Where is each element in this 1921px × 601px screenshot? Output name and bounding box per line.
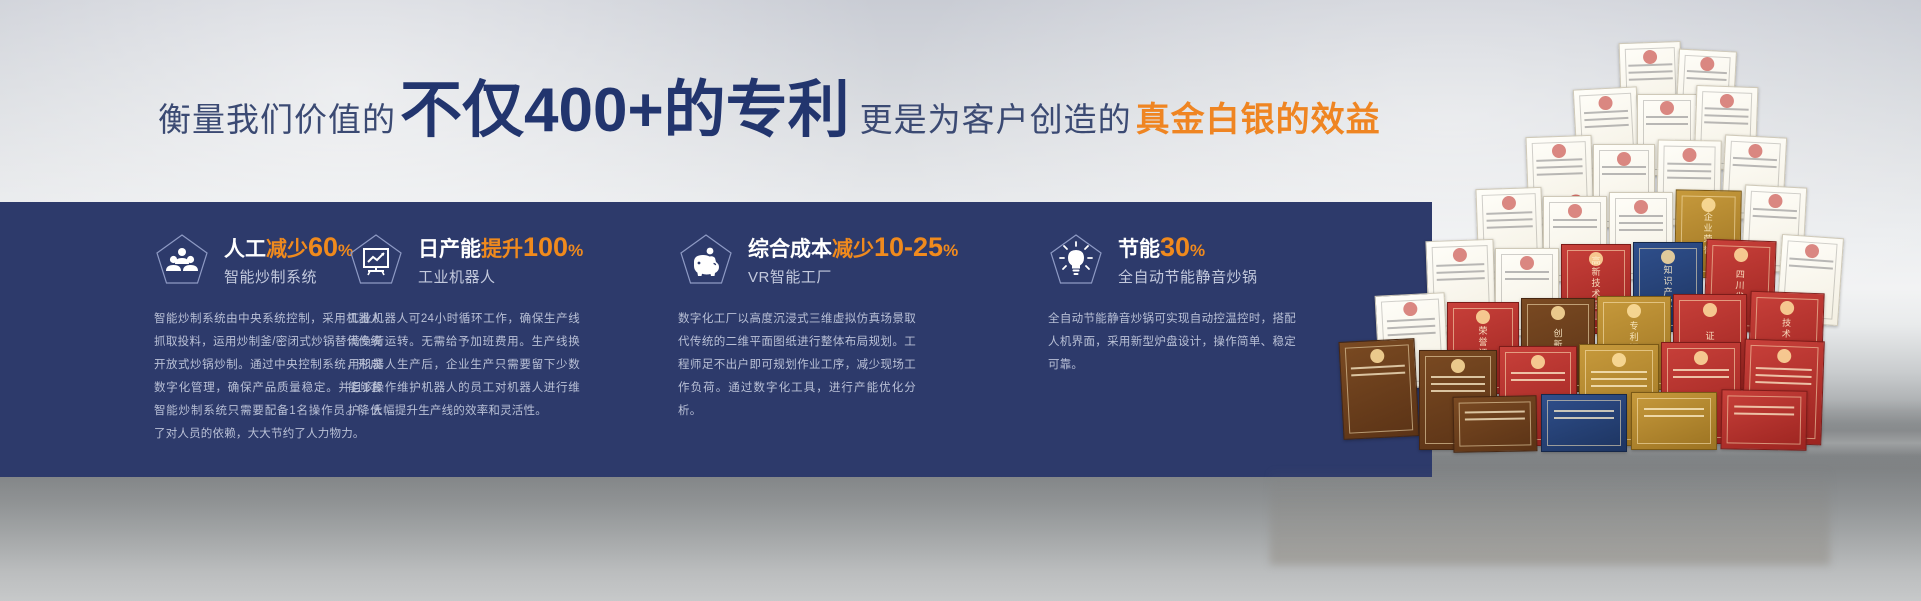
feature-title-percent: % [1190, 241, 1205, 260]
headline-emphasis: 不仅400+的专利 [400, 80, 850, 142]
headline-lead: 衡量我们价值的 [158, 93, 396, 141]
feature-item-cost: 综合成本减少10-25% VR智能工厂 数字化工厂以高度沉浸式三维虚拟仿真场景取… [668, 202, 1028, 477]
feature-title-number: 30 [1160, 232, 1190, 262]
feature-title: 节能30% [1118, 233, 1258, 263]
hero-banner: 衡量我们价值的 不仅400+的专利 更是为客户创造的 真金白银的效益 [0, 0, 1921, 601]
lightbulb-icon [1048, 232, 1104, 288]
headline: 衡量我们价值的 不仅400+的专利 更是为客户创造的 真金白银的效益 [158, 80, 1381, 142]
feature-header: 综合成本减少10-25% VR智能工厂 [678, 232, 1028, 288]
feature-title-prefix: 日产能 [418, 238, 481, 261]
feature-title-em: 减少 [266, 238, 308, 261]
certificate-item [1338, 338, 1419, 440]
features-list: 人工减少60% 智能炒制系统 智能炒制系统由中央系统控制，采用机器人抓取投料，运… [0, 202, 1432, 477]
headline-mid: 更是为客户创造的 [860, 93, 1132, 141]
certificate-item [1541, 394, 1627, 452]
feature-title-number: 100 [523, 232, 568, 262]
feature-title-number: 10-25 [874, 232, 943, 262]
certificate-stack: 企业荣誉 高新技术企业 知识产权 四川省 荣誉证书 创新奖 专利证书 证书 技术… [1245, 40, 1885, 540]
feature-title-number: 60 [308, 232, 338, 262]
feature-subtitle: VR智能工厂 [748, 266, 958, 287]
feature-title: 综合成本减少10-25% [748, 233, 958, 263]
feature-item-capacity: 日产能提升100% 工业机器人 工业机器人可24小时循环工作，确保生产线满负荷运… [338, 202, 668, 477]
chart-board-icon [348, 232, 404, 288]
feature-title: 人工减少60% [224, 233, 353, 263]
feature-text: 日产能提升100% 工业机器人 [418, 233, 583, 288]
feature-item-labor: 人工减少60% 智能炒制系统 智能炒制系统由中央系统控制，采用机器人抓取投料，运… [0, 202, 338, 477]
features-panel: 人工减少60% 智能炒制系统 智能炒制系统由中央系统控制，采用机器人抓取投料，运… [0, 202, 1432, 477]
feature-text: 综合成本减少10-25% VR智能工厂 [748, 233, 958, 288]
feature-title-prefix: 人工 [224, 238, 266, 261]
feature-body: 数字化工厂以高度沉浸式三维虚拟仿真场景取代传统的二维平面图纸进行整体布局规划。工… [678, 308, 916, 423]
feature-title: 日产能提升100% [418, 233, 583, 263]
feature-title-prefix: 综合成本 [748, 238, 832, 261]
feature-subtitle: 全自动节能静音炒锅 [1118, 266, 1258, 287]
people-group-icon [154, 232, 210, 288]
feature-header: 日产能提升100% 工业机器人 [348, 232, 668, 288]
feature-title-percent: % [943, 241, 958, 260]
feature-body: 工业机器人可24小时循环工作，确保生产线满负荷运转。无需给予加班费用。生产线换用… [348, 308, 580, 423]
feature-title-prefix: 节能 [1118, 238, 1160, 261]
feature-title-em: 提升 [481, 238, 523, 261]
feature-text: 节能30% 全自动节能静音炒锅 [1118, 233, 1258, 288]
feature-title-em: 减少 [832, 238, 874, 261]
feature-subtitle: 智能炒制系统 [224, 266, 353, 287]
feature-header: 人工减少60% 智能炒制系统 [154, 232, 338, 288]
certificate-item [1631, 392, 1717, 450]
feature-title-percent: % [568, 241, 583, 260]
certificate-item [1720, 389, 1807, 450]
feature-text: 人工减少60% 智能炒制系统 [224, 233, 353, 288]
certificate-item [1453, 395, 1538, 452]
piggy-bank-icon [678, 232, 734, 288]
feature-subtitle: 工业机器人 [418, 266, 583, 287]
